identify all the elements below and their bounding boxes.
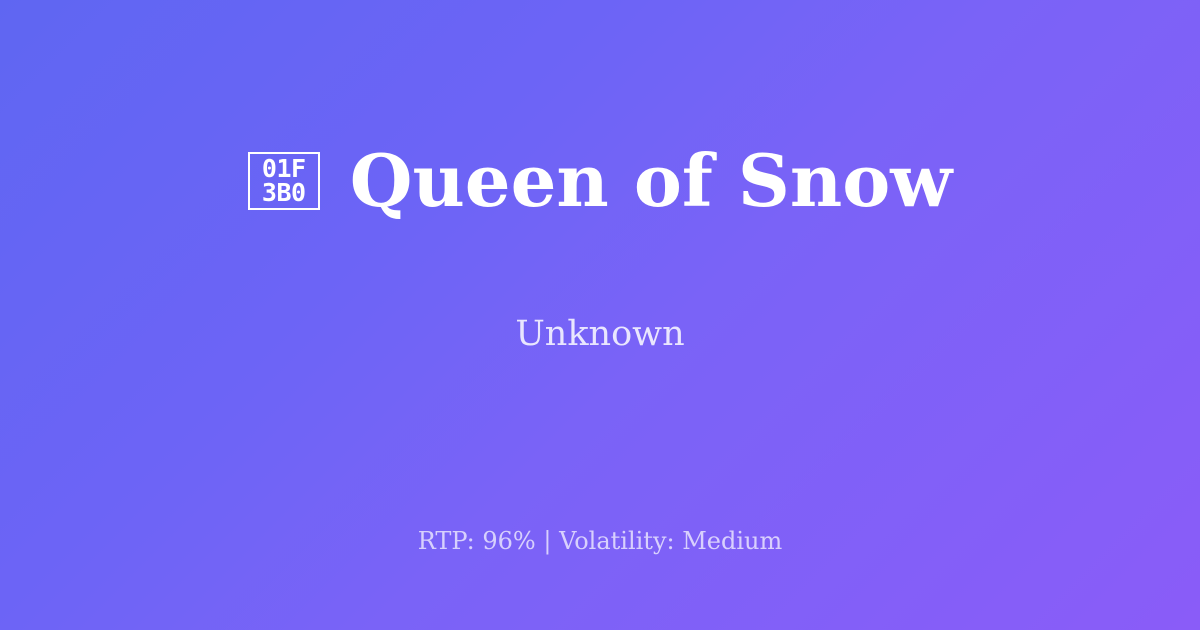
- hero-block: 01F 3B0 Queen of Snow Unknown: [0, 0, 1200, 470]
- game-preview-card: 01F 3B0 Queen of Snow Unknown RTP: 96% |…: [0, 0, 1200, 630]
- slot-machine-icon-codepoint-low: 3B0: [262, 181, 306, 205]
- game-title: Queen of Snow: [350, 143, 953, 219]
- slot-machine-icon: 01F 3B0: [248, 152, 320, 210]
- game-stats-line: RTP: 96% | Volatility: Medium: [0, 527, 1200, 556]
- game-provider: Unknown: [515, 315, 684, 354]
- title-row: 01F 3B0 Queen of Snow: [248, 95, 953, 267]
